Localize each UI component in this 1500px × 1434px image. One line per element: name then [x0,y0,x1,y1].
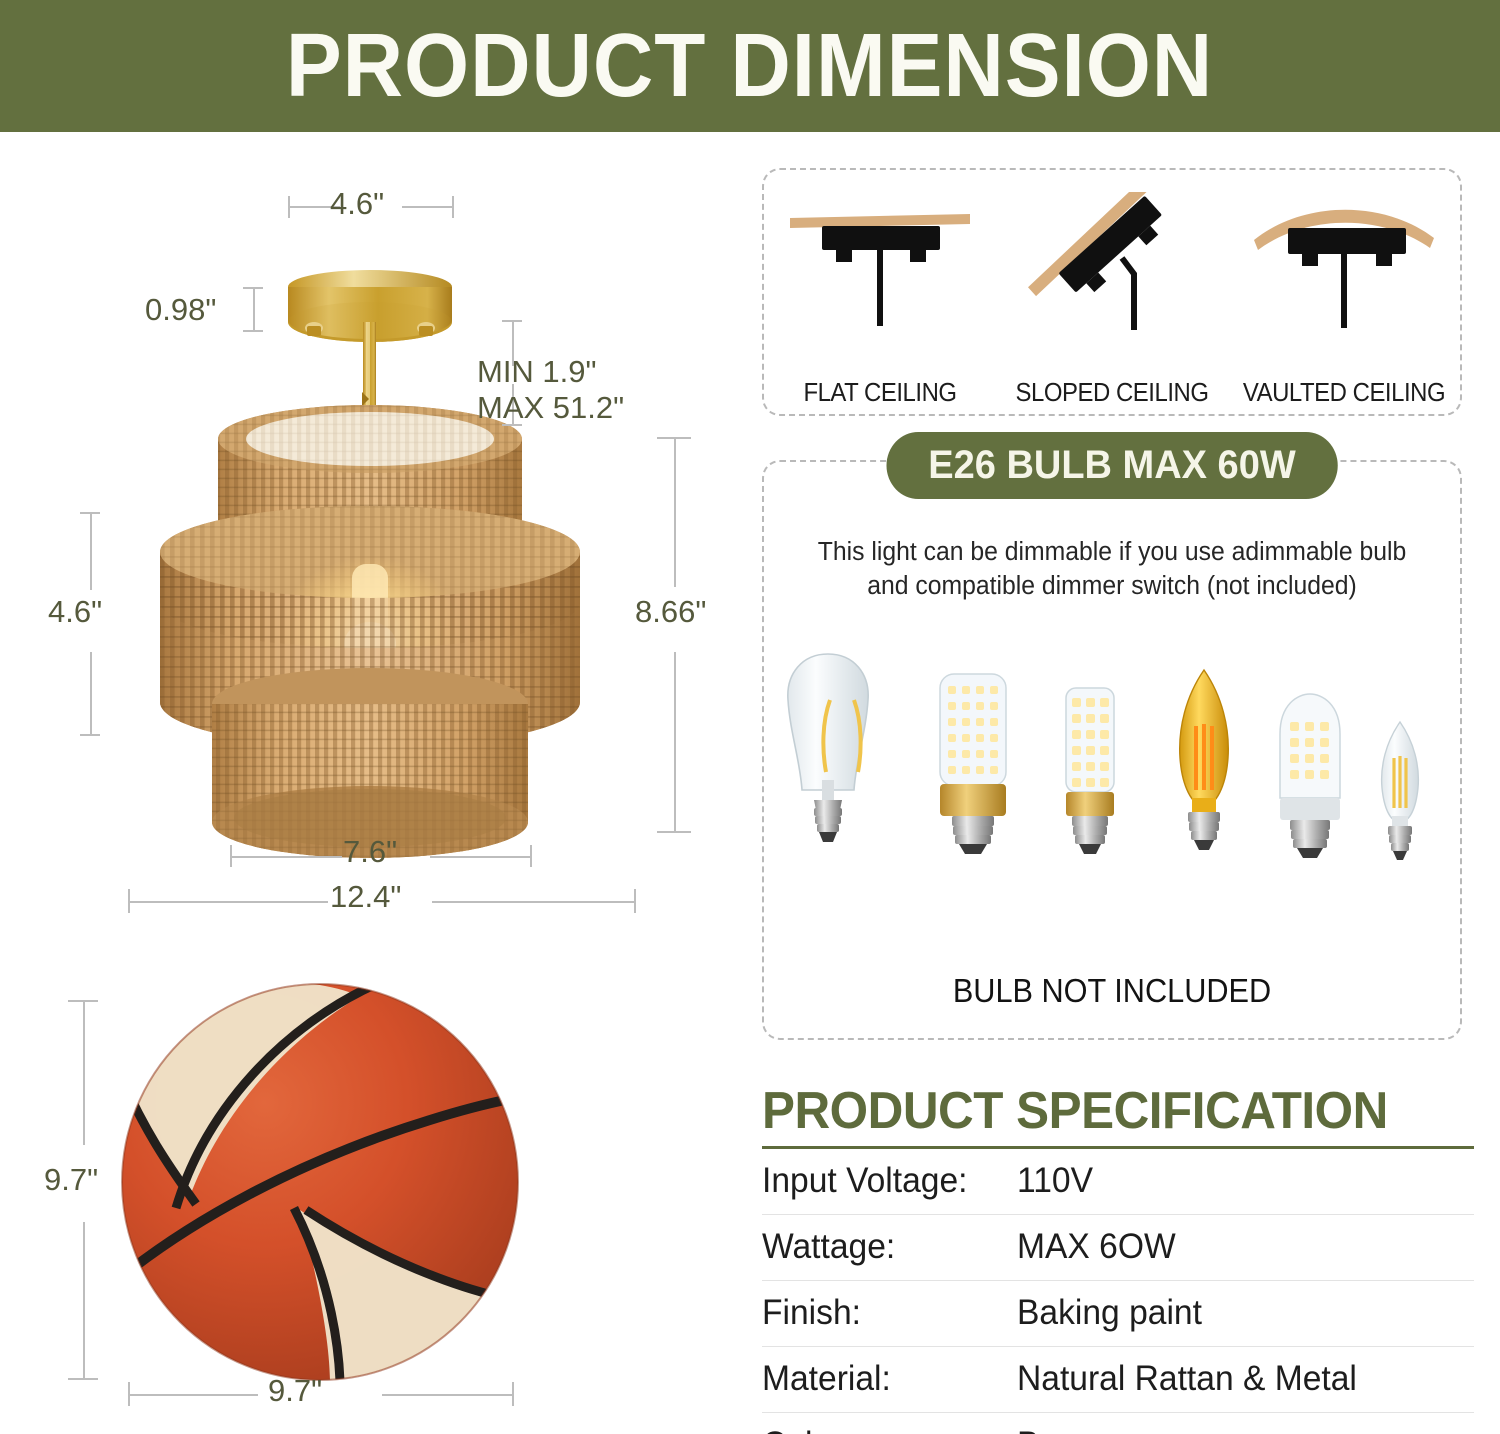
dim-shade-height-label: 4.6" [48,594,102,630]
ceiling-type-vaulted-label: VAULTED CEILING [1237,377,1450,408]
bulb-icons [778,640,1450,908]
compatible-bulbs-strip [778,640,1450,908]
spec-value-finish: Baking paint [1017,1293,1202,1333]
lamp-illustration [0,132,740,932]
specification-title: PRODUCT SPECIFICATION [762,1084,1438,1139]
table-row: Finish: Baking paint [762,1281,1474,1347]
spec-value-color: Brown [1017,1425,1112,1434]
led-bullet-bulb [1280,694,1340,858]
specification-section: PRODUCT SPECIFICATION Input Voltage: 110… [762,1084,1474,1434]
basketball-illustration [0,960,740,1434]
ceiling-type-flat[interactable]: FLAT CEILING [764,192,996,362]
clear-candle-filament-bulb [1382,722,1419,860]
dim-canopy-height-label: 0.98" [145,292,216,328]
rattan-shade-bottom [212,668,528,858]
ceiling-types-row: FLAT CEILING SLOPED CEILING [764,192,1460,362]
header-band: PRODUCT DIMENSION [0,0,1500,132]
spec-key-material: Material: [762,1359,1007,1399]
vaulted-ceiling-icon [1228,192,1460,332]
spec-key-wattage: Wattage: [762,1227,1007,1267]
amber-candle-filament-bulb [1180,670,1229,850]
dim-rod-max-label: MAX 51.2" [477,390,624,426]
spec-value-wattage: MAX 6OW [1017,1227,1176,1267]
ceiling-type-vaulted[interactable]: VAULTED CEILING [1228,192,1460,362]
flat-ceiling-icon [764,192,996,332]
edison-st64-filament-bulb [788,654,868,842]
ceiling-types-panel: FLAT CEILING SLOPED CEILING [762,168,1462,416]
spec-value-material: Natural Rattan & Metal [1017,1359,1357,1399]
bulb-not-included-note: BULB NOT INCLUDED [788,972,1435,1010]
table-row: Color: Brown [762,1413,1474,1434]
spec-value-input-voltage: 110V [1017,1161,1093,1201]
table-row: Wattage: MAX 6OW [762,1215,1474,1281]
dim-ball-width-label: 9.7" [268,1373,322,1409]
dim-rod-min-label: MIN 1.9" [477,354,597,390]
right-column: FLAT CEILING SLOPED CEILING [740,132,1500,1434]
dim-inner-width-label: 7.6" [343,834,397,870]
led-corn-bulb-slim [1066,688,1114,854]
led-corn-bulb-large [940,674,1006,854]
lamp-dimension-diagram: 4.6" 0.98" MIN 1.9" MAX 51.2" 4.6" [0,132,740,932]
dim-total-height-label: 8.66" [635,594,706,630]
dim-canopy-width-label: 4.6" [330,186,384,222]
product-dimension-infographic: PRODUCT DIMENSION [0,0,1500,1434]
bulb-description: This light can be dimmable if you use ad… [774,536,1449,603]
table-row: Input Voltage: 110V [762,1149,1474,1215]
table-row: Material: Natural Rattan & Metal [762,1347,1474,1413]
sloped-ceiling-icon [996,192,1228,332]
basketball-scale-reference: 9.7" 9.7" [0,960,740,1434]
dim-outer-width-label: 12.4" [330,879,401,915]
spec-key-color: Color: [762,1425,1007,1434]
bulb-info-panel: E26 BULB MAX 60W This light can be dimma… [762,460,1462,1040]
dim-ball-height-label: 9.7" [44,1162,98,1198]
page-title: PRODUCT DIMENSION [286,15,1213,118]
ceiling-type-sloped-label: SLOPED CEILING [1005,377,1218,408]
ceiling-type-flat-label: FLAT CEILING [773,377,986,408]
bulb-badge: E26 BULB MAX 60W [886,432,1337,499]
spec-key-input-voltage: Input Voltage: [762,1161,1007,1201]
spec-key-finish: Finish: [762,1293,1007,1333]
ceiling-type-sloped[interactable]: SLOPED CEILING [996,192,1228,362]
